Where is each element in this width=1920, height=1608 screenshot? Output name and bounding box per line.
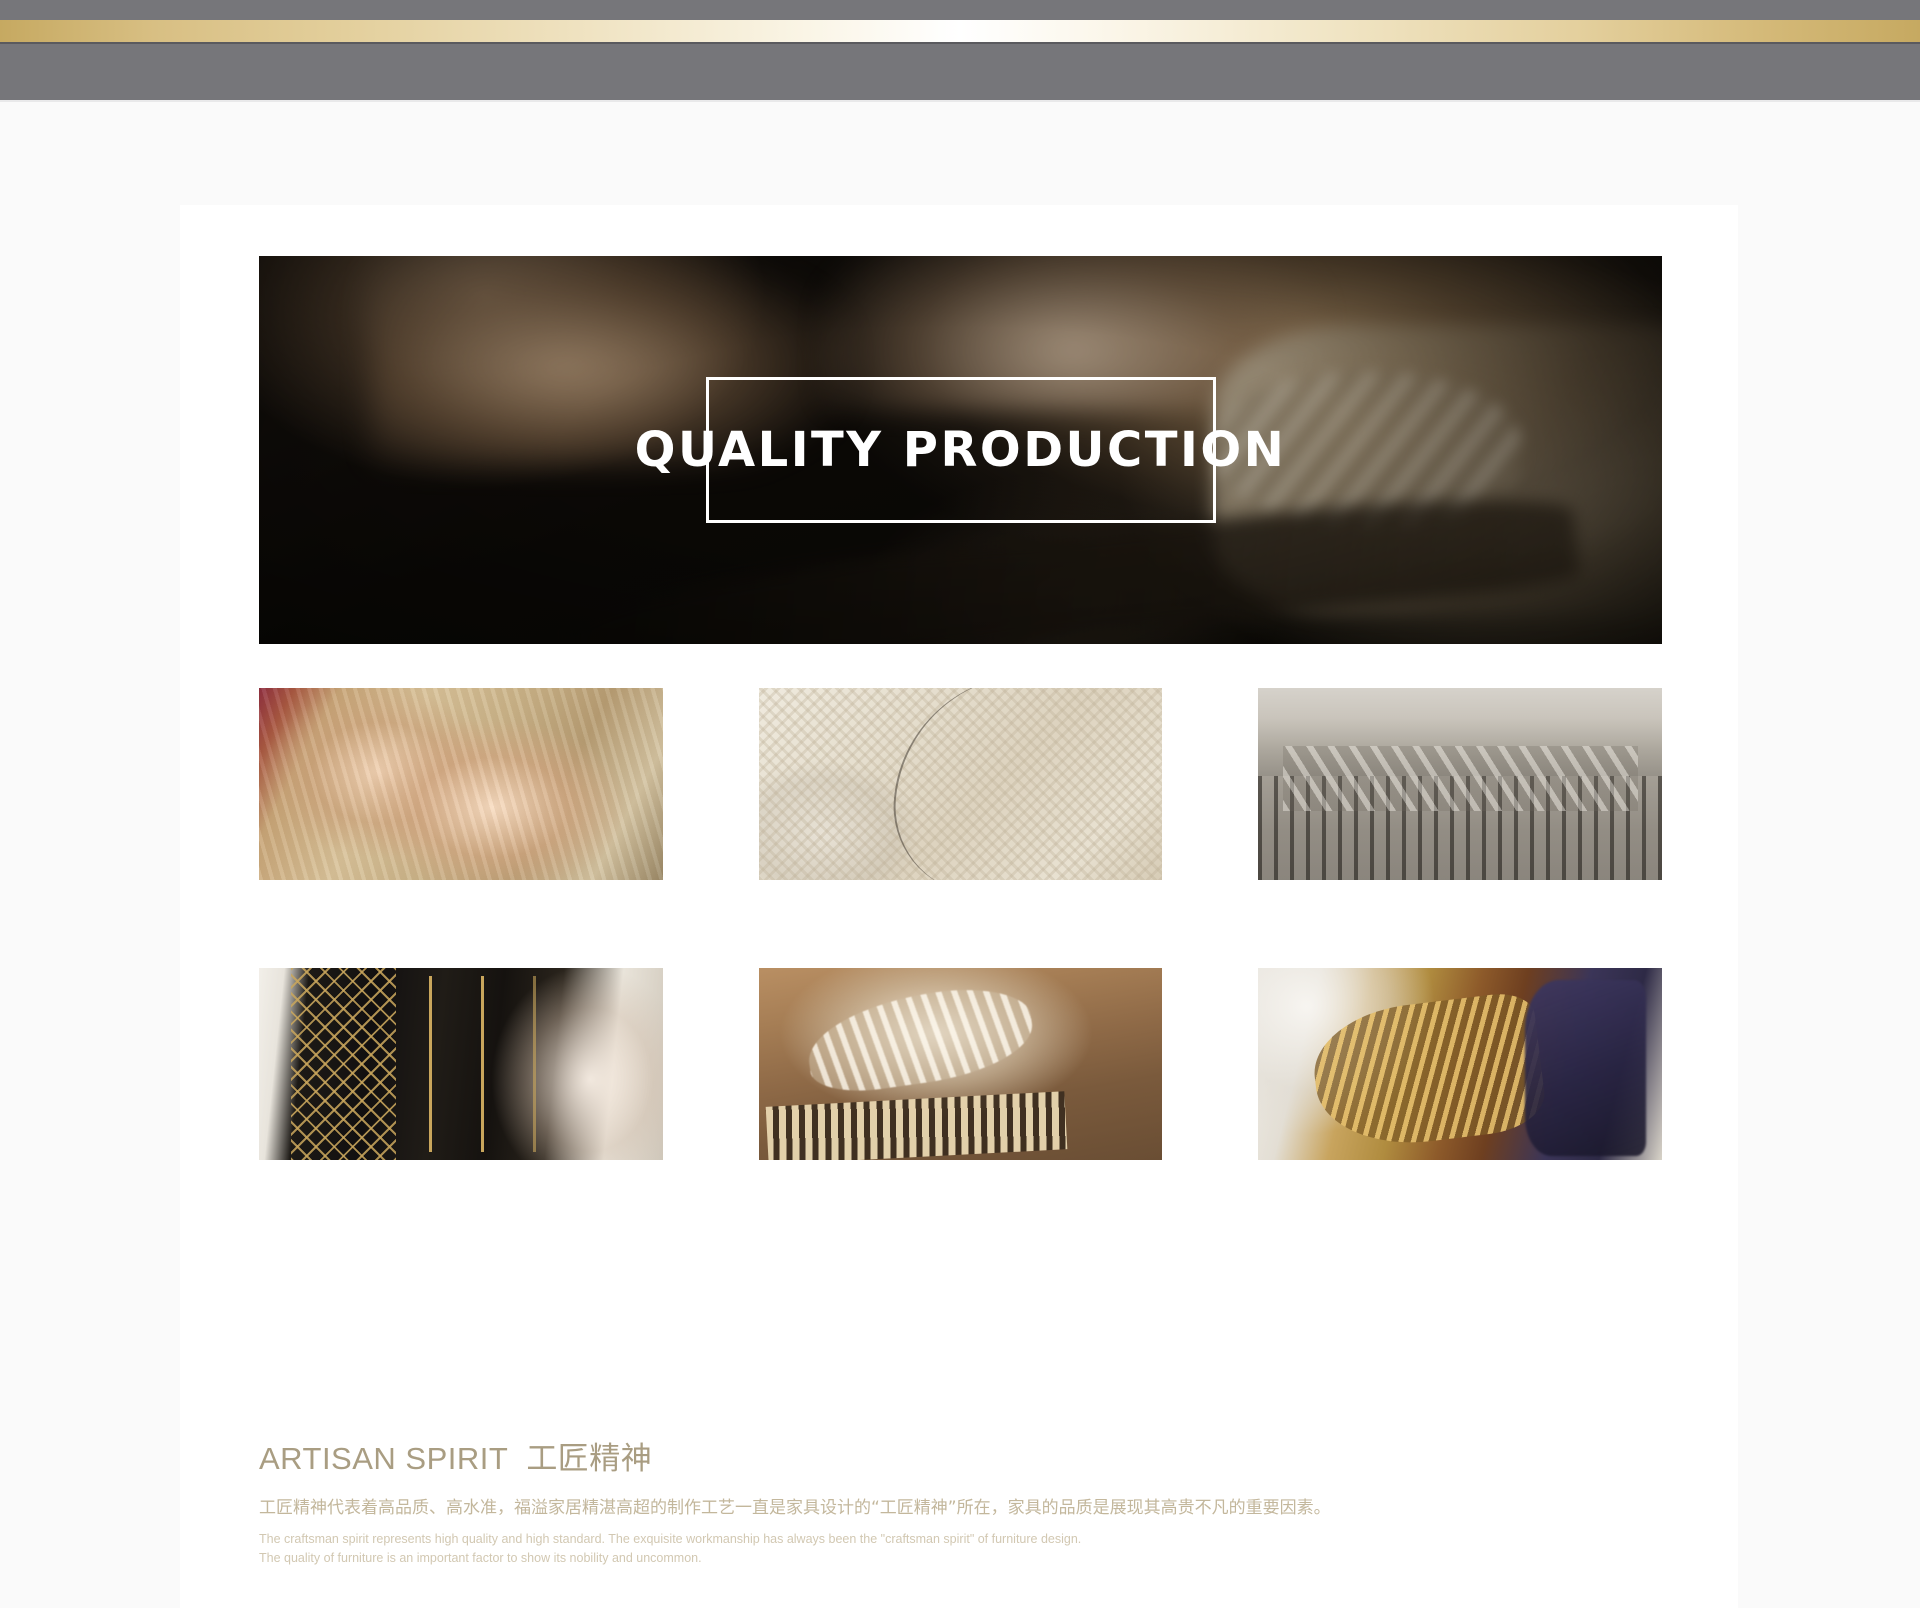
hero-title-block: QUALITY PRODUCTION — [259, 350, 1662, 550]
gallery-thumb-wood-carving[interactable] — [759, 968, 1163, 1160]
gallery-thumb-fabric-cutting[interactable] — [759, 688, 1163, 880]
hero-banner[interactable]: QUALITY PRODUCTION — [259, 256, 1662, 644]
thumb-image-4 — [259, 968, 663, 1160]
artisan-heading-cn: 工匠精神 — [526, 1441, 652, 1476]
artisan-description-en: The craftsman spirit represents high qua… — [259, 1530, 1619, 1569]
header-gold-gradient-bar — [0, 20, 1920, 42]
gallery-row-1 — [259, 688, 1662, 880]
thumb-image-5 — [759, 968, 1163, 1160]
artisan-description-cn: 工匠精神代表着高品质、高水准，福溢家居精湛高超的制作工艺一直是家具设计的“工匠精… — [259, 1496, 1619, 1522]
artisan-heading-en: ARTISAN SPIRIT — [259, 1441, 508, 1476]
artisan-text-block: ARTISAN SPIRIT工匠精神 工匠精神代表着高品质、高水准，福溢家居精湛… — [259, 1433, 1619, 1568]
site-header-bars — [0, 0, 1920, 102]
header-gray-strip-top — [0, 0, 1920, 20]
thumb-image-2 — [759, 688, 1163, 880]
hero-title-text: QUALITY PRODUCTION — [625, 422, 1297, 478]
thumb-image-6 — [1258, 968, 1662, 1160]
gallery-thumb-veneer-marquetry[interactable] — [259, 688, 663, 880]
production-gallery — [259, 688, 1662, 1248]
artisan-description-en-line2: The quality of furniture is an important… — [259, 1549, 1619, 1568]
artisan-heading: ARTISAN SPIRIT工匠精神 — [259, 1433, 1619, 1478]
thumb-image-3 — [1258, 688, 1662, 880]
content-container: QUALITY PRODUCTION — [180, 205, 1738, 1608]
gallery-thumb-gilded-chair[interactable] — [1258, 968, 1662, 1160]
artisan-description-en-line1: The craftsman spirit represents high qua… — [259, 1530, 1619, 1549]
gallery-row-2 — [259, 968, 1662, 1160]
gallery-thumb-lacquer-painting[interactable] — [259, 968, 663, 1160]
thumb-image-1 — [259, 688, 663, 880]
header-gray-band — [0, 44, 1920, 100]
gallery-thumb-frame-assembly[interactable] — [1258, 688, 1662, 880]
header-bottom-edge — [0, 100, 1920, 102]
hero-title-frame: QUALITY PRODUCTION — [706, 377, 1216, 523]
